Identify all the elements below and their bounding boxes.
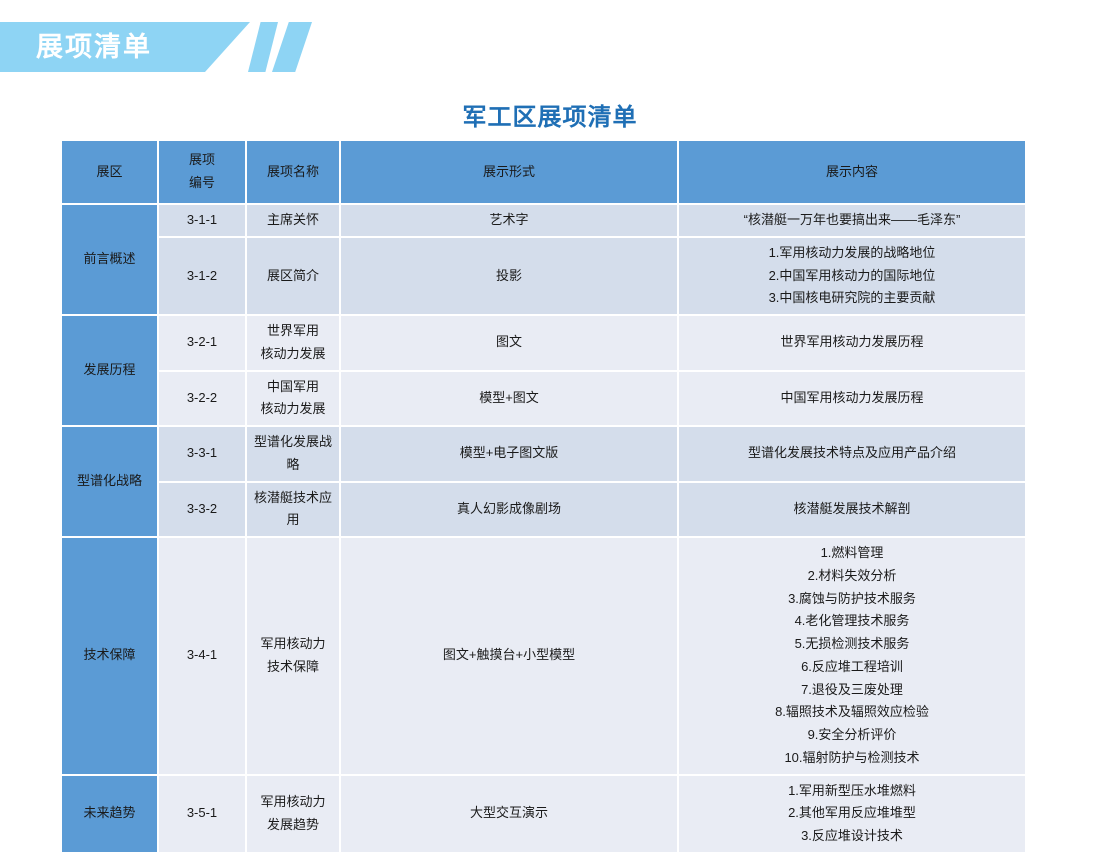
exhibit-content-line: 3.腐蚀与防护技术服务 [685,588,1019,611]
exhibit-name-line: 核潜艇技术应 [253,487,333,510]
exhibit-name-line: 军用核动力 [253,633,333,656]
exhibit-code-cell: 3-4-1 [159,538,245,774]
table-row: 3-1-2展区简介投影1.军用核动力发展的战略地位2.中国军用核动力的国际地位3… [62,238,1025,314]
exhibit-content-line: 3.中国核电研究院的主要贡献 [685,287,1019,310]
exhibit-content-line: 7.退役及三废处理 [685,679,1019,702]
exhibit-content-line: 1.燃料管理 [685,542,1019,565]
exhibit-code-cell: 3-2-1 [159,316,245,370]
exhibit-name-line: 核动力发展 [253,343,333,366]
exhibit-content-cell: 1.军用新型压水堆燃料2.其他军用反应堆堆型3.反应堆设计技术 [679,776,1025,852]
exhibit-content-cell: 1.燃料管理2.材料失效分析3.腐蚀与防护技术服务4.老化管理技术服务5.无损检… [679,538,1025,774]
exhibit-form-cell: 大型交互演示 [341,776,677,852]
exhibit-name-cell: 军用核动力技术保障 [247,538,339,774]
exhibit-code-cell: 3-5-1 [159,776,245,852]
exhibit-code-cell: 3-3-2 [159,483,245,537]
exhibit-content-cell: 1.军用核动力发展的战略地位2.中国军用核动力的国际地位3.中国核电研究院的主要… [679,238,1025,314]
exhibit-content-line: 核潜艇发展技术解剖 [685,498,1019,521]
table-row: 发展历程3-2-1世界军用核动力发展图文世界军用核动力发展历程 [62,316,1025,370]
exhibit-content-cell: 世界军用核动力发展历程 [679,316,1025,370]
column-header-code-line2: 编号 [165,172,239,195]
exhibit-listing-table: 展区 展项 编号 展项名称 展示形式 展示内容 前言概述3-1-1主席关怀艺术字… [60,139,1027,854]
exhibit-name-line: 军用核动力 [253,791,333,814]
exhibit-form-cell: 模型+电子图文版 [341,427,677,481]
exhibit-name-cell: 军用核动力发展趋势 [247,776,339,852]
exhibit-content-line: 1.军用新型压水堆燃料 [685,780,1019,803]
zone-cell: 型谱化战略 [62,427,157,536]
column-header-code: 展项 编号 [159,141,245,203]
exhibit-name-cell: 核潜艇技术应用 [247,483,339,537]
exhibit-content-cell: 型谱化发展技术特点及应用产品介绍 [679,427,1025,481]
exhibit-name-cell: 主席关怀 [247,205,339,236]
exhibit-content-line: 2.材料失效分析 [685,565,1019,588]
page-title: 军工区展项清单 [0,97,1100,132]
exhibit-content-line: 中国军用核动力发展历程 [685,387,1019,410]
zone-cell: 技术保障 [62,538,157,774]
table-header-row: 展区 展项 编号 展项名称 展示形式 展示内容 [62,141,1025,203]
table-row: 未来趋势3-5-1军用核动力发展趋势大型交互演示1.军用新型压水堆燃料2.其他军… [62,776,1025,852]
column-header-name: 展项名称 [247,141,339,203]
exhibit-content-line: 4.老化管理技术服务 [685,610,1019,633]
exhibit-content-cell: 核潜艇发展技术解剖 [679,483,1025,537]
zone-cell: 发展历程 [62,316,157,425]
exhibit-name-line: 用 [253,509,333,532]
exhibit-name-cell: 展区简介 [247,238,339,314]
exhibit-name-line: 发展趋势 [253,814,333,837]
zone-cell: 前言概述 [62,205,157,314]
exhibit-content-line: 型谱化发展技术特点及应用产品介绍 [685,442,1019,465]
table-row: 型谱化战略3-3-1型谱化发展战略模型+电子图文版型谱化发展技术特点及应用产品介… [62,427,1025,481]
column-header-form: 展示形式 [341,141,677,203]
exhibit-name-line: 主席关怀 [253,209,333,232]
exhibit-content-line: 8.辐照技术及辐照效应检验 [685,701,1019,724]
exhibit-name-line: 展区简介 [253,265,333,288]
exhibit-content-line: 9.安全分析评价 [685,724,1019,747]
exhibit-form-cell: 真人幻影成像剧场 [341,483,677,537]
exhibit-form-cell: 模型+图文 [341,372,677,426]
exhibit-content-cell: 中国军用核动力发展历程 [679,372,1025,426]
exhibit-name-cell: 世界军用核动力发展 [247,316,339,370]
table-row: 前言概述3-1-1主席关怀艺术字“核潜艇一万年也要搞出来——毛泽东” [62,205,1025,236]
exhibit-name-line: 型谱化发展战 [253,431,333,454]
exhibit-code-cell: 3-1-1 [159,205,245,236]
exhibit-form-cell: 图文+触摸台+小型模型 [341,538,677,774]
table-row: 3-2-2中国军用核动力发展模型+图文中国军用核动力发展历程 [62,372,1025,426]
banner-label: 展项清单 [36,22,152,72]
column-header-zone: 展区 [62,141,157,203]
exhibit-code-cell: 3-2-2 [159,372,245,426]
column-header-content: 展示内容 [679,141,1025,203]
exhibit-name-line: 核动力发展 [253,398,333,421]
exhibit-name-line: 略 [253,454,333,477]
banner-slash-icon-2 [272,22,312,72]
table-header: 展区 展项 编号 展项名称 展示形式 展示内容 [62,141,1025,203]
exhibit-content-line: 世界军用核动力发展历程 [685,331,1019,354]
exhibit-content-line: 2.其他军用反应堆堆型 [685,802,1019,825]
exhibit-content-line: 1.军用核动力发展的战略地位 [685,242,1019,265]
exhibit-content-line: 6.反应堆工程培训 [685,656,1019,679]
column-header-code-line1: 展项 [165,149,239,172]
zone-cell: 未来趋势 [62,776,157,852]
exhibit-code-cell: 3-1-2 [159,238,245,314]
exhibit-content-line: 10.辐射防护与检测技术 [685,747,1019,770]
exhibit-content-cell: “核潜艇一万年也要搞出来——毛泽东” [679,205,1025,236]
table-row: 3-3-2核潜艇技术应用真人幻影成像剧场核潜艇发展技术解剖 [62,483,1025,537]
exhibit-listing-table-wrap: 展区 展项 编号 展项名称 展示形式 展示内容 前言概述3-1-1主席关怀艺术字… [60,139,1021,854]
exhibit-name-line: 中国军用 [253,376,333,399]
exhibit-form-cell: 图文 [341,316,677,370]
exhibit-content-line: 5.无损检测技术服务 [685,633,1019,656]
exhibit-name-cell: 型谱化发展战略 [247,427,339,481]
table-row: 技术保障3-4-1军用核动力技术保障图文+触摸台+小型模型1.燃料管理2.材料失… [62,538,1025,774]
exhibit-content-line: 2.中国军用核动力的国际地位 [685,265,1019,288]
exhibit-content-line: “核潜艇一万年也要搞出来——毛泽东” [685,209,1019,232]
table-body: 前言概述3-1-1主席关怀艺术字“核潜艇一万年也要搞出来——毛泽东”3-1-2展… [62,205,1025,852]
exhibit-name-cell: 中国军用核动力发展 [247,372,339,426]
banner-slash-icon-1 [248,22,278,72]
exhibit-form-cell: 投影 [341,238,677,314]
exhibit-form-cell: 艺术字 [341,205,677,236]
exhibit-content-line: 3.反应堆设计技术 [685,825,1019,848]
exhibit-code-cell: 3-3-1 [159,427,245,481]
exhibit-name-line: 技术保障 [253,656,333,679]
exhibit-name-line: 世界军用 [253,320,333,343]
page-banner: 展项清单 [0,22,330,72]
